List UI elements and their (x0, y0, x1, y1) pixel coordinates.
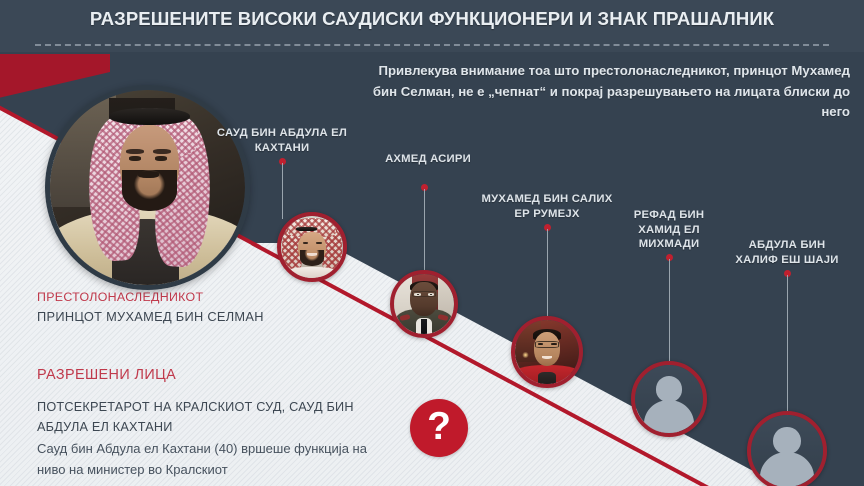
dismissed-body: Сауд бин Абдула ел Кахтани (40) вршеше ф… (37, 438, 373, 480)
chain-pin-stem-3 (547, 229, 549, 321)
infographic-canvas: РАЗРЕШЕНИТЕ ВИСОКИ САУДИСКИ ФУНКЦИОНЕРИ … (0, 0, 864, 486)
portrait-refad-al-mihmadi-image (635, 365, 703, 433)
crown-prince-caption: ПРЕСТОЛОНАСЛЕДНИКОТ ПРИНЦОТ МУХАМЕД БИН … (37, 288, 337, 327)
chain-label-5: АБДУЛА БИН ХАЛИФ ЕШ ШАЈИ (730, 238, 844, 267)
question-mark-glyph: ? (410, 399, 468, 457)
crown-prince-role: ПРЕСТОЛОНАСЛЕДНИКОТ (37, 288, 337, 307)
portrait-ahmed-al-asiri (390, 270, 458, 338)
portrait-abdullah-al-shaya (747, 411, 827, 486)
portrait-mohammed-al-rumayh (511, 316, 583, 388)
chain-label-4: РЕФАД БИН ХАМИД ЕЛ МИХМАДИ (612, 208, 726, 252)
chain-pin-stem-1 (282, 163, 284, 219)
chain-pin-stem-2 (424, 189, 426, 277)
chain-label-1: САУД БИН АБДУЛА ЕЛ КАХТАНИ (212, 126, 352, 155)
dismissed-persons-block: РАЗРЕШЕНИ ЛИЦА ПОТСЕКРЕТАРОТ НА КРАЛСКИО… (37, 367, 373, 480)
portrait-mohammed-al-rumayh-image (515, 320, 579, 384)
crown-prince-name: ПРИНЦОТ МУХАМЕД БИН СЕЛМАН (37, 307, 337, 327)
portrait-saud-al-qahtani (277, 212, 347, 282)
header-dashed-divider (35, 44, 829, 46)
chain-label-2: АХМЕД АСИРИ (382, 152, 474, 167)
dismissed-subject: ПОТСЕКРЕТАРОТ НА КРАЛСКИОТ СУД, САУД БИН… (37, 397, 373, 437)
portrait-abdullah-al-shaya-image (751, 415, 823, 486)
page-title: РАЗРЕШЕНИТЕ ВИСОКИ САУДИСКИ ФУНКЦИОНЕРИ … (0, 8, 864, 30)
portrait-saud-al-qahtani-image (281, 216, 343, 278)
chain-pin-stem-4 (669, 259, 671, 368)
dismissed-heading: РАЗРЕШЕНИ ЛИЦА (37, 367, 373, 383)
portrait-crown-prince (45, 85, 250, 290)
portrait-crown-prince-image (50, 90, 245, 285)
intro-paragraph: Привлекува внимание тоа што престолонасл… (352, 61, 850, 123)
portrait-ahmed-al-asiri-image (394, 274, 454, 334)
question-mark-icon: ? (410, 399, 468, 457)
chain-pin-stem-5 (787, 275, 789, 418)
portrait-refad-al-mihmadi (631, 361, 707, 437)
chain-label-3: МУХАМЕД БИН САЛИХ ЕР РУМЕЈХ (481, 192, 613, 221)
